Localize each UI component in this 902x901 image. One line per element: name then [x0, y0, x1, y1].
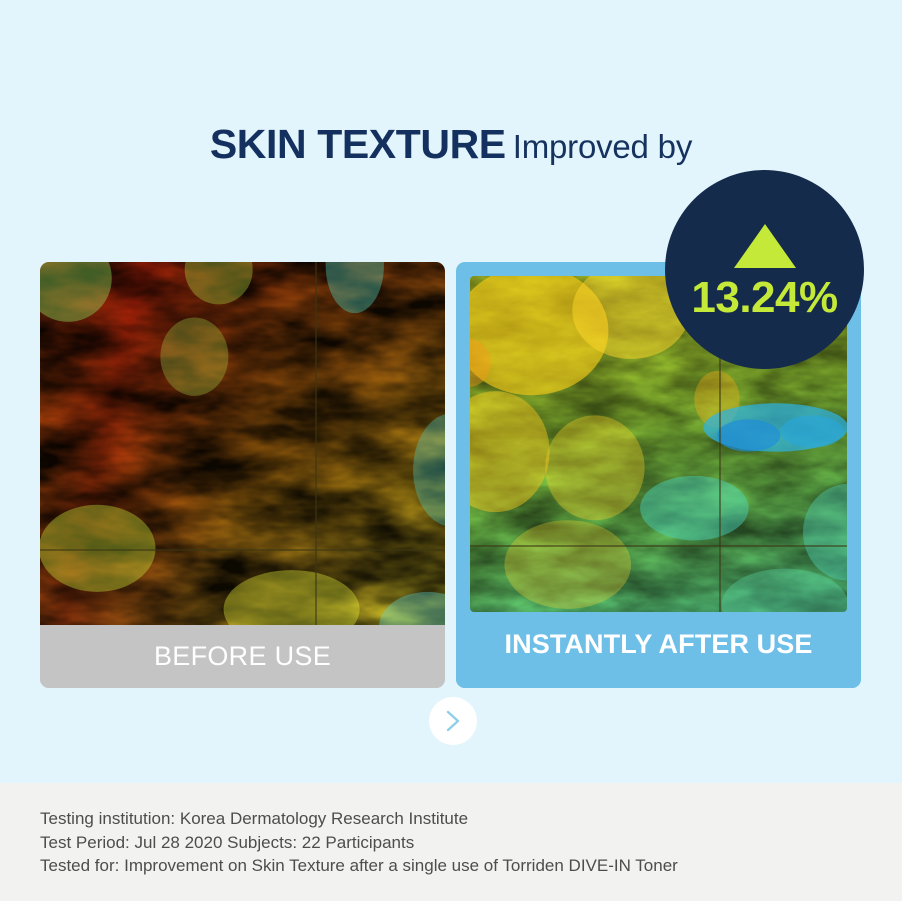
after-crosshair-horizontal [470, 545, 847, 547]
page-title: SKIN TEXTUREImproved by [0, 124, 902, 165]
hero-section: SKIN TEXTUREImproved by [0, 0, 902, 783]
after-caption: INSTANTLY AFTER USE [456, 612, 861, 688]
chevron-right-icon [429, 697, 477, 745]
before-crosshair-vertical [315, 262, 317, 625]
headline-light: Improved by [513, 128, 692, 165]
footer-disclaimer: Testing institution: Korea Dermatology R… [40, 807, 678, 878]
footer-line-tested-for: Tested for: Improvement on Skin Texture … [40, 854, 678, 878]
footer-line-period: Test Period: Jul 28 2020 Subjects: 22 Pa… [40, 831, 678, 855]
improvement-badge: 13.24% [665, 170, 864, 369]
footer-section: Testing institution: Korea Dermatology R… [0, 783, 902, 901]
before-crosshair-horizontal [40, 549, 445, 551]
before-heatmap-image [40, 262, 445, 625]
before-panel: BEFORE USE [40, 262, 445, 688]
badge-value: 13.24% [691, 276, 837, 320]
footer-line-institution: Testing institution: Korea Dermatology R… [40, 807, 678, 831]
before-heatmap-svg [40, 262, 445, 625]
before-caption: BEFORE USE [40, 625, 445, 688]
triangle-up-icon [734, 224, 796, 268]
headline-strong: SKIN TEXTURE [210, 121, 506, 167]
